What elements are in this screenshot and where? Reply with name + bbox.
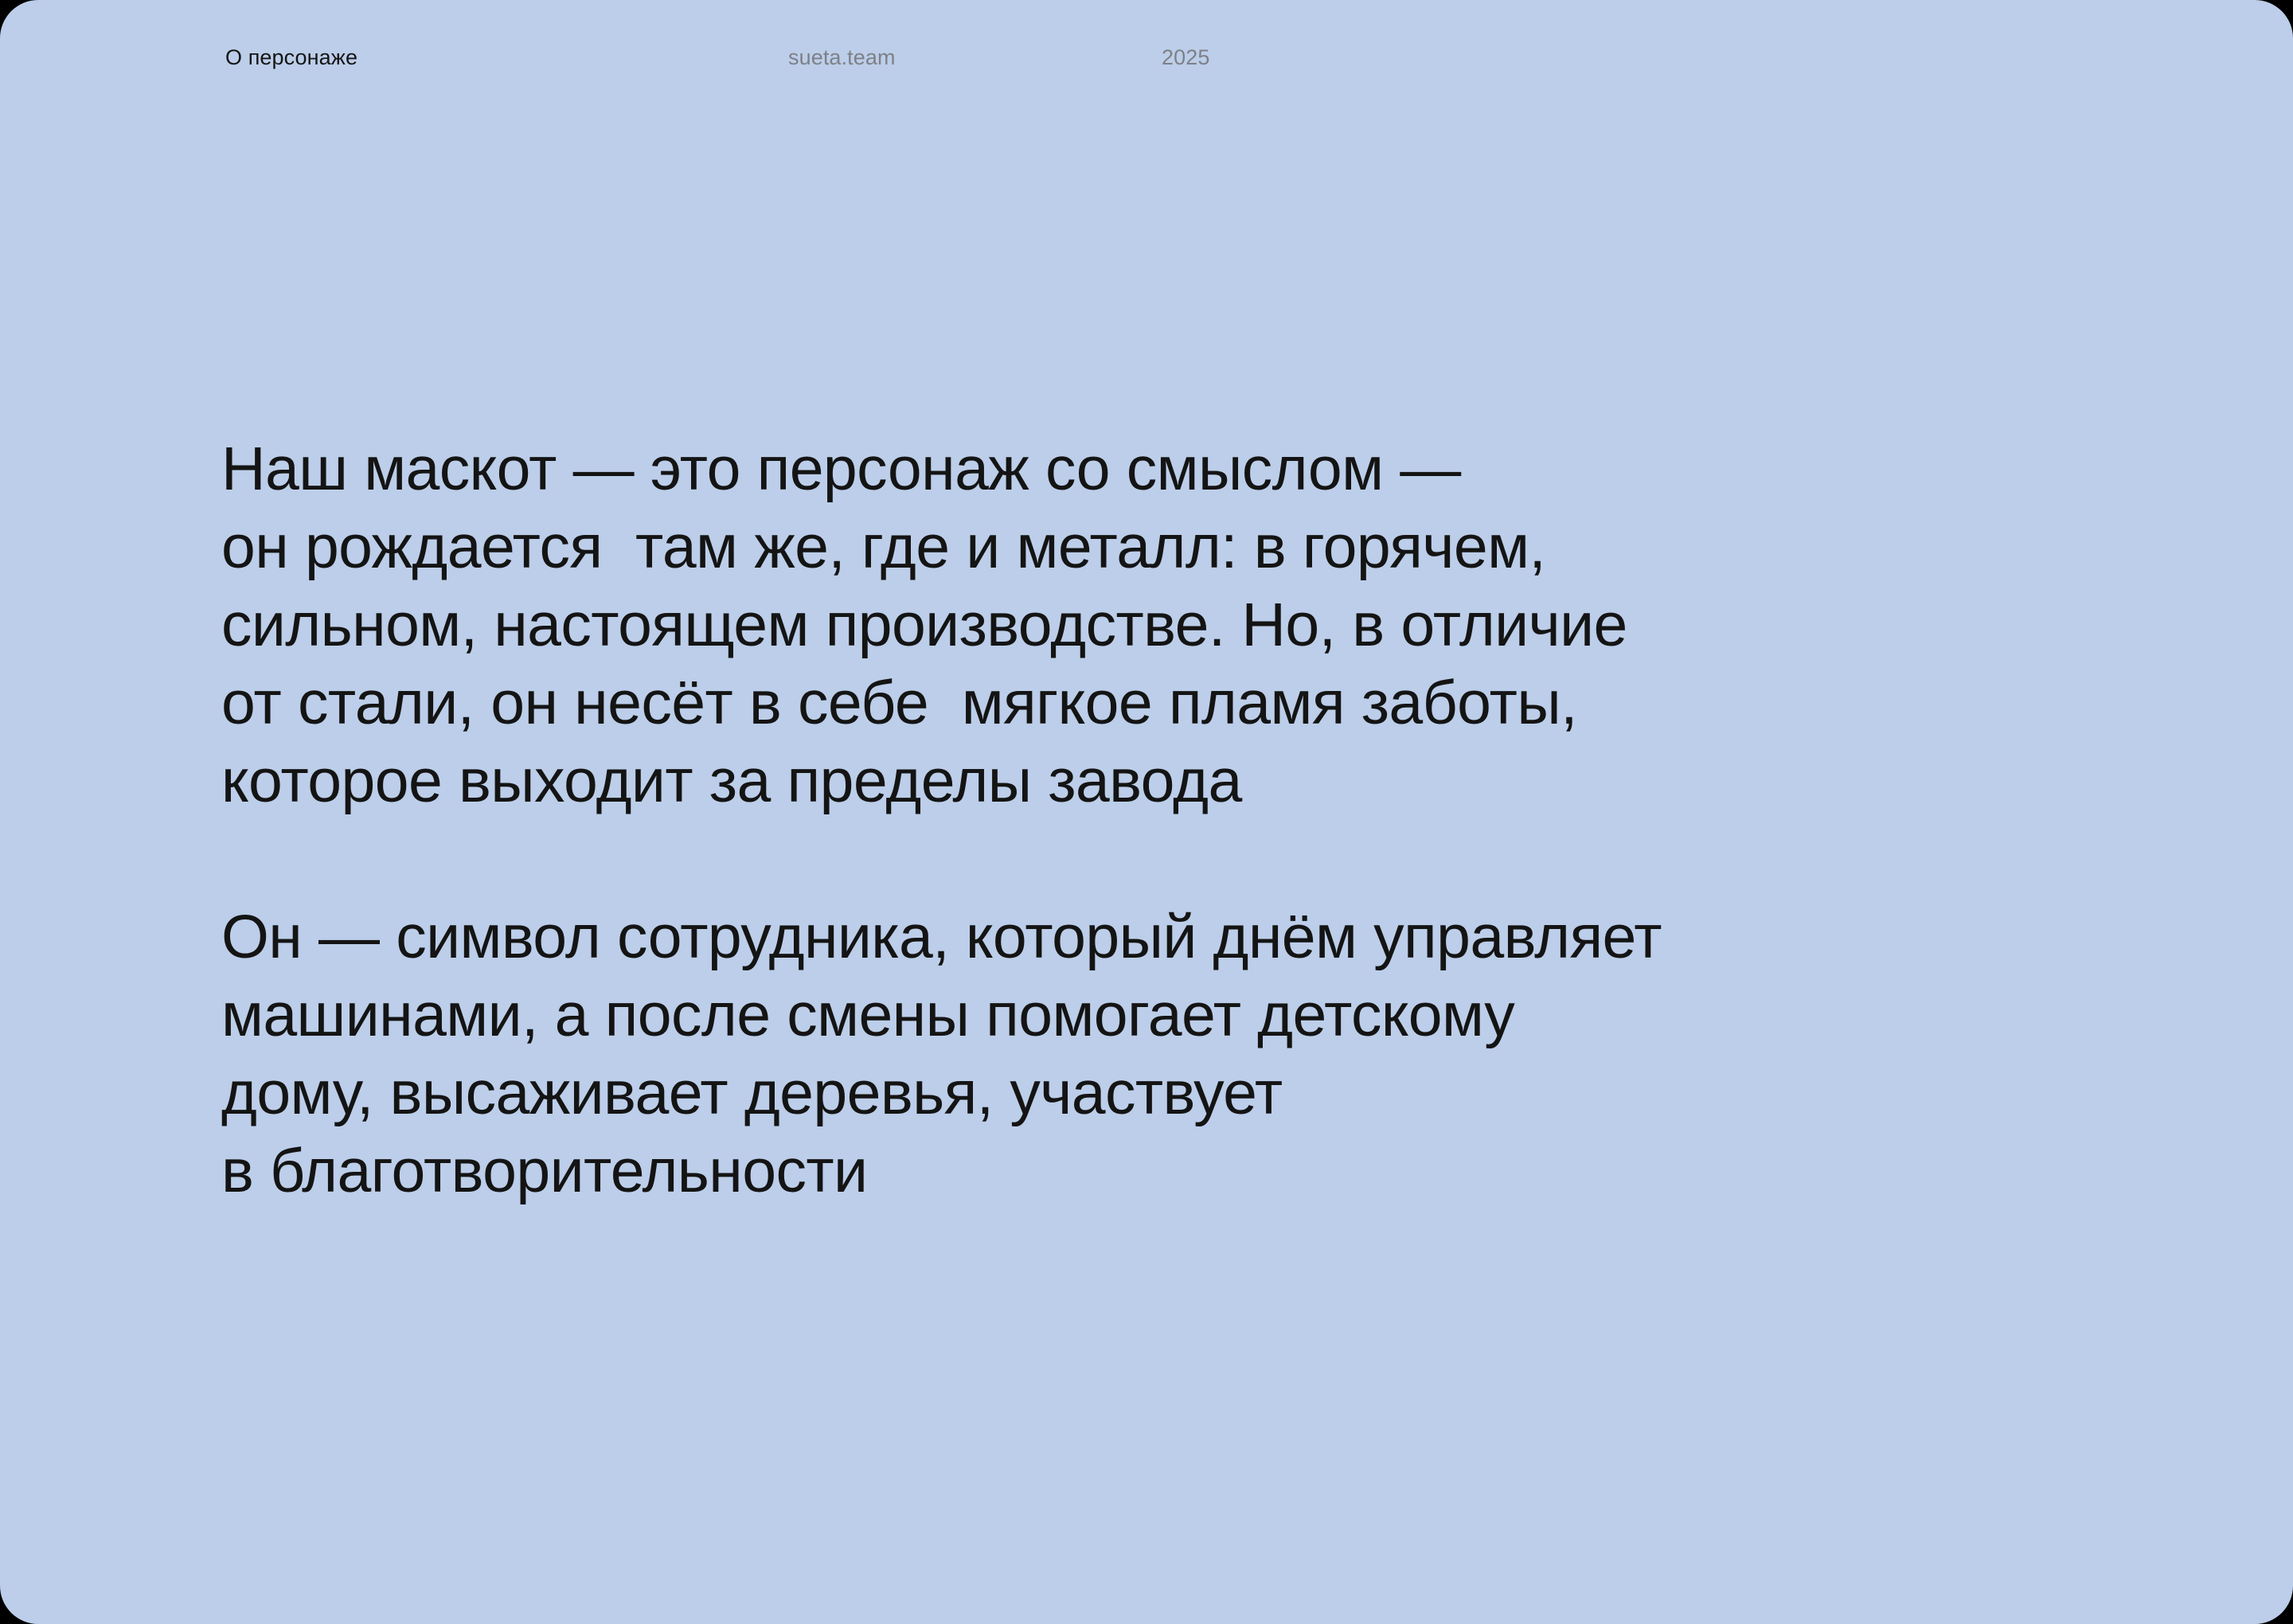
slide-body-copy: Наш маскот — это персонаж со смыслом — о… — [221, 430, 2084, 1210]
site-name-label: sueta.team — [788, 41, 896, 73]
year-label: 2025 — [1162, 41, 1209, 73]
paragraph-spacer — [221, 820, 2084, 898]
presentation-slide: О персонаже sueta.team 2025 Наш маскот —… — [0, 0, 2293, 1624]
slide-header: О персонаже sueta.team 2025 — [0, 41, 2293, 73]
slide-section-label: О персонаже — [225, 41, 357, 73]
body-paragraph-2: Он — символ сотрудника, который днём упр… — [221, 898, 2084, 1210]
body-paragraph-1: Наш маскот — это персонаж со смыслом — о… — [221, 430, 2084, 820]
